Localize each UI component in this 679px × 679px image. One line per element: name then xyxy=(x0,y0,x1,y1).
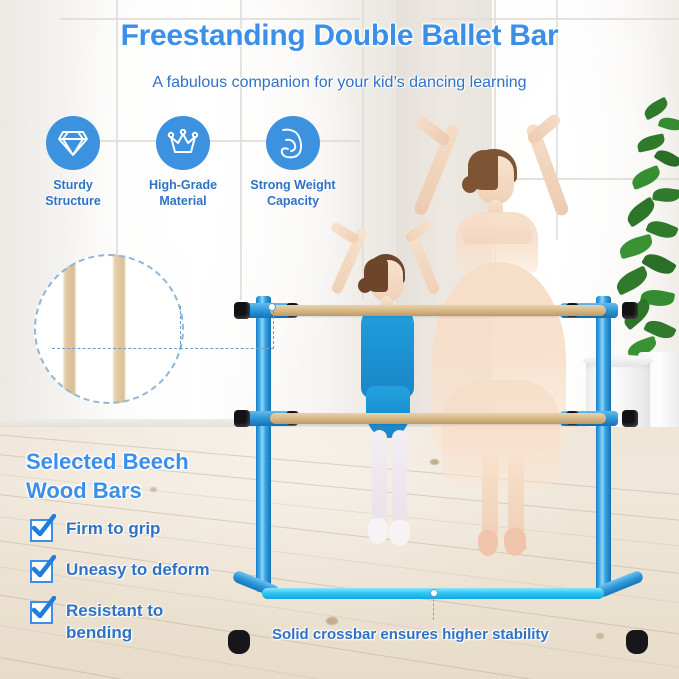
beech-heading: Selected Beech Wood Bars xyxy=(26,447,189,505)
crossbar-leader-line xyxy=(433,594,434,620)
page-subtitle: A fabulous companion for your kid’s danc… xyxy=(0,74,679,92)
checklist-text: Uneasy to deform xyxy=(66,559,210,581)
checklist-text: Resistant to bending xyxy=(66,600,196,644)
checkbox-icon xyxy=(30,601,53,624)
feature-label-line1: Sturdy xyxy=(53,178,93,192)
diamond-icon xyxy=(46,116,100,170)
feature-label-line1: Strong Weight xyxy=(250,178,335,192)
beech-heading-line2: Wood Bars xyxy=(26,478,142,503)
upper-right-outer-knob xyxy=(622,302,638,319)
upper-wood-bar xyxy=(270,305,606,316)
left-rubber-foot xyxy=(228,630,250,654)
beech-heading-line1: Selected Beech xyxy=(26,449,189,474)
product-marketing-image: Freestanding Double Ballet Bar A fabulou… xyxy=(0,0,679,679)
feature-label-line2: Structure xyxy=(45,194,101,208)
feature-sturdy-structure: Sturdy Structure xyxy=(30,116,116,209)
right-rubber-foot xyxy=(626,630,648,654)
callout-leader-line xyxy=(52,348,182,349)
feature-badges: Sturdy Structure High-Grade Material xyxy=(30,116,336,209)
right-vertical-post xyxy=(596,296,611,592)
crown-icon xyxy=(156,116,210,170)
list-item: Uneasy to deform xyxy=(30,559,210,583)
bicep-icon xyxy=(266,116,320,170)
feature-strong-weight-capacity: Strong Weight Capacity xyxy=(250,116,336,209)
wood-grain-zoom-callout xyxy=(34,254,184,404)
crossbar-caption: Solid crossbar ensures higher stability xyxy=(272,626,549,643)
list-item: Firm to grip xyxy=(30,518,210,542)
beech-checklist: Firm to grip Uneasy to deform Resistant … xyxy=(30,518,210,661)
lower-wood-bar xyxy=(270,413,606,424)
lower-left-outer-knob xyxy=(234,410,250,427)
page-title: Freestanding Double Ballet Bar xyxy=(0,19,679,53)
callout-dashed-rect xyxy=(180,306,274,349)
checkbox-icon xyxy=(30,519,53,542)
checklist-text: Firm to grip xyxy=(66,518,160,540)
feature-label: Sturdy Structure xyxy=(30,177,116,209)
feature-high-grade-material: High-Grade Material xyxy=(140,116,226,209)
list-item: Resistant to bending xyxy=(30,600,210,644)
feature-label-line1: High-Grade xyxy=(149,178,217,192)
feature-label: Strong Weight Capacity xyxy=(250,177,336,209)
feature-label-line2: Material xyxy=(159,194,206,208)
checkbox-icon xyxy=(30,560,53,583)
callout-anchor-dot xyxy=(268,303,276,311)
feature-label-line2: Capacity xyxy=(267,194,319,208)
lower-right-outer-knob xyxy=(622,410,638,427)
feature-label: High-Grade Material xyxy=(140,177,226,209)
crossbar-anchor-dot xyxy=(430,589,438,597)
